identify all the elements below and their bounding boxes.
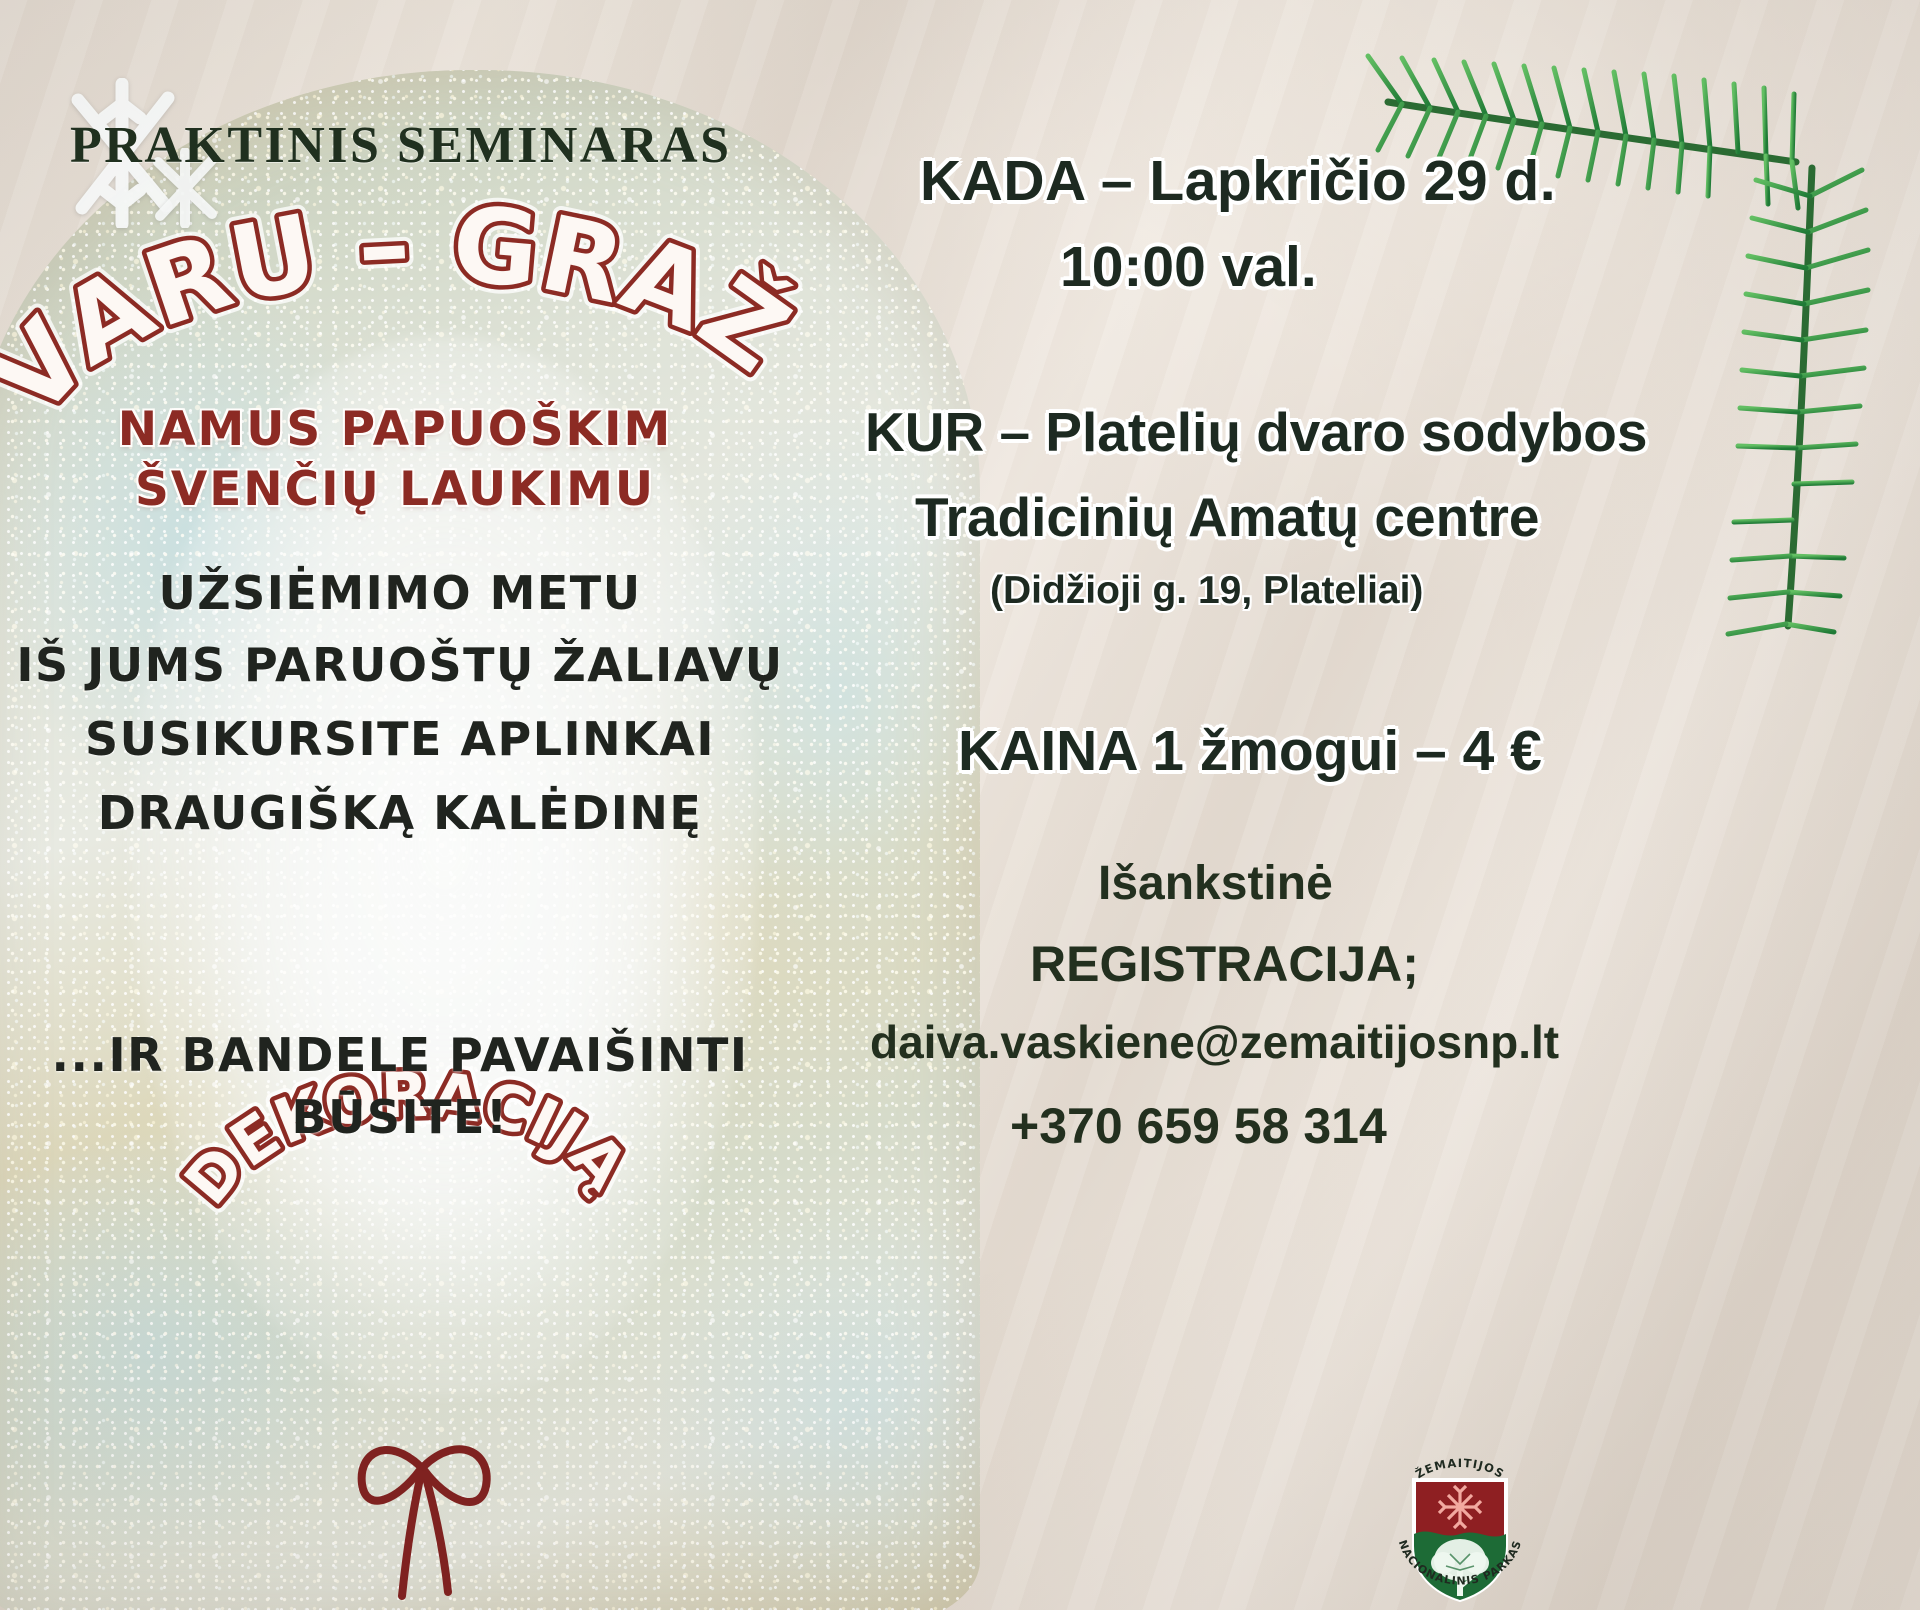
when-line-2: 10:00 val. <box>1060 234 1317 300</box>
bow-icon <box>322 1418 522 1603</box>
body-line-2: IŠ JUMS PARUOŠTŲ ŽALIAVŲ <box>0 638 800 692</box>
closing-line-1: ...IR BANDELE PAVAIŠINTI <box>30 1028 770 1082</box>
zemaitija-national-park-logo: ŽEMAITIJOS NACIONALINIS PARKAS <box>1390 1442 1530 1610</box>
details-column: KADA – Lapkričio 29 d. 10:00 val. KUR – … <box>1000 0 1920 1610</box>
where-address: (Didžioji g. 19, Plateliai) <box>990 569 1423 613</box>
body-line-4: DRAUGIŠKĄ KALĖDINĘ <box>0 786 800 840</box>
glitter-texture-coarse <box>0 70 980 1610</box>
contact-email[interactable]: daiva.vaskiene@zemaitijosnp.lt <box>870 1015 1559 1069</box>
body-line-3: SUSIKURSITE APLINKAI <box>0 712 800 766</box>
closing-line-2: BŪSITE! <box>30 1090 770 1144</box>
subtitle-line-1: NAMUS PAPUOŠKIM <box>0 402 790 457</box>
svg-text:ŽEMAITIJOS: ŽEMAITIJOS <box>1412 1456 1507 1481</box>
when-line-1: KADA – Lapkričio 29 d. <box>920 148 1556 214</box>
subtitle-line-2: ŠVENČIŲ LAUKIMU <box>0 462 790 517</box>
body-line-1: UŽSIĖMIMO METU <box>0 566 800 620</box>
page-eyebrow-title: PRAKTINIS SEMINARAS <box>70 116 732 175</box>
registration-label-2: REGISTRACIJA; <box>1030 935 1419 993</box>
where-line-2: Tradicinių Amatų centre <box>915 485 1540 549</box>
eyebrow-text: PRAKTINIS SEMINARAS <box>70 117 732 174</box>
glitter-mitten-shape <box>0 70 980 1610</box>
registration-label-1: Išankstinė <box>1098 856 1333 911</box>
price-line: KAINA 1 žmogui – 4 € <box>958 718 1542 784</box>
logo-top-text: ŽEMAITIJOS <box>1412 1456 1507 1481</box>
poster-canvas: PRAKTINIS SEMINARAS TVARU – GRAŽU TVARU … <box>0 0 1920 1610</box>
contact-phone[interactable]: +370 659 58 314 <box>1010 1097 1387 1155</box>
where-line-1: KUR – Platelių dvaro sodybos <box>865 400 1647 464</box>
